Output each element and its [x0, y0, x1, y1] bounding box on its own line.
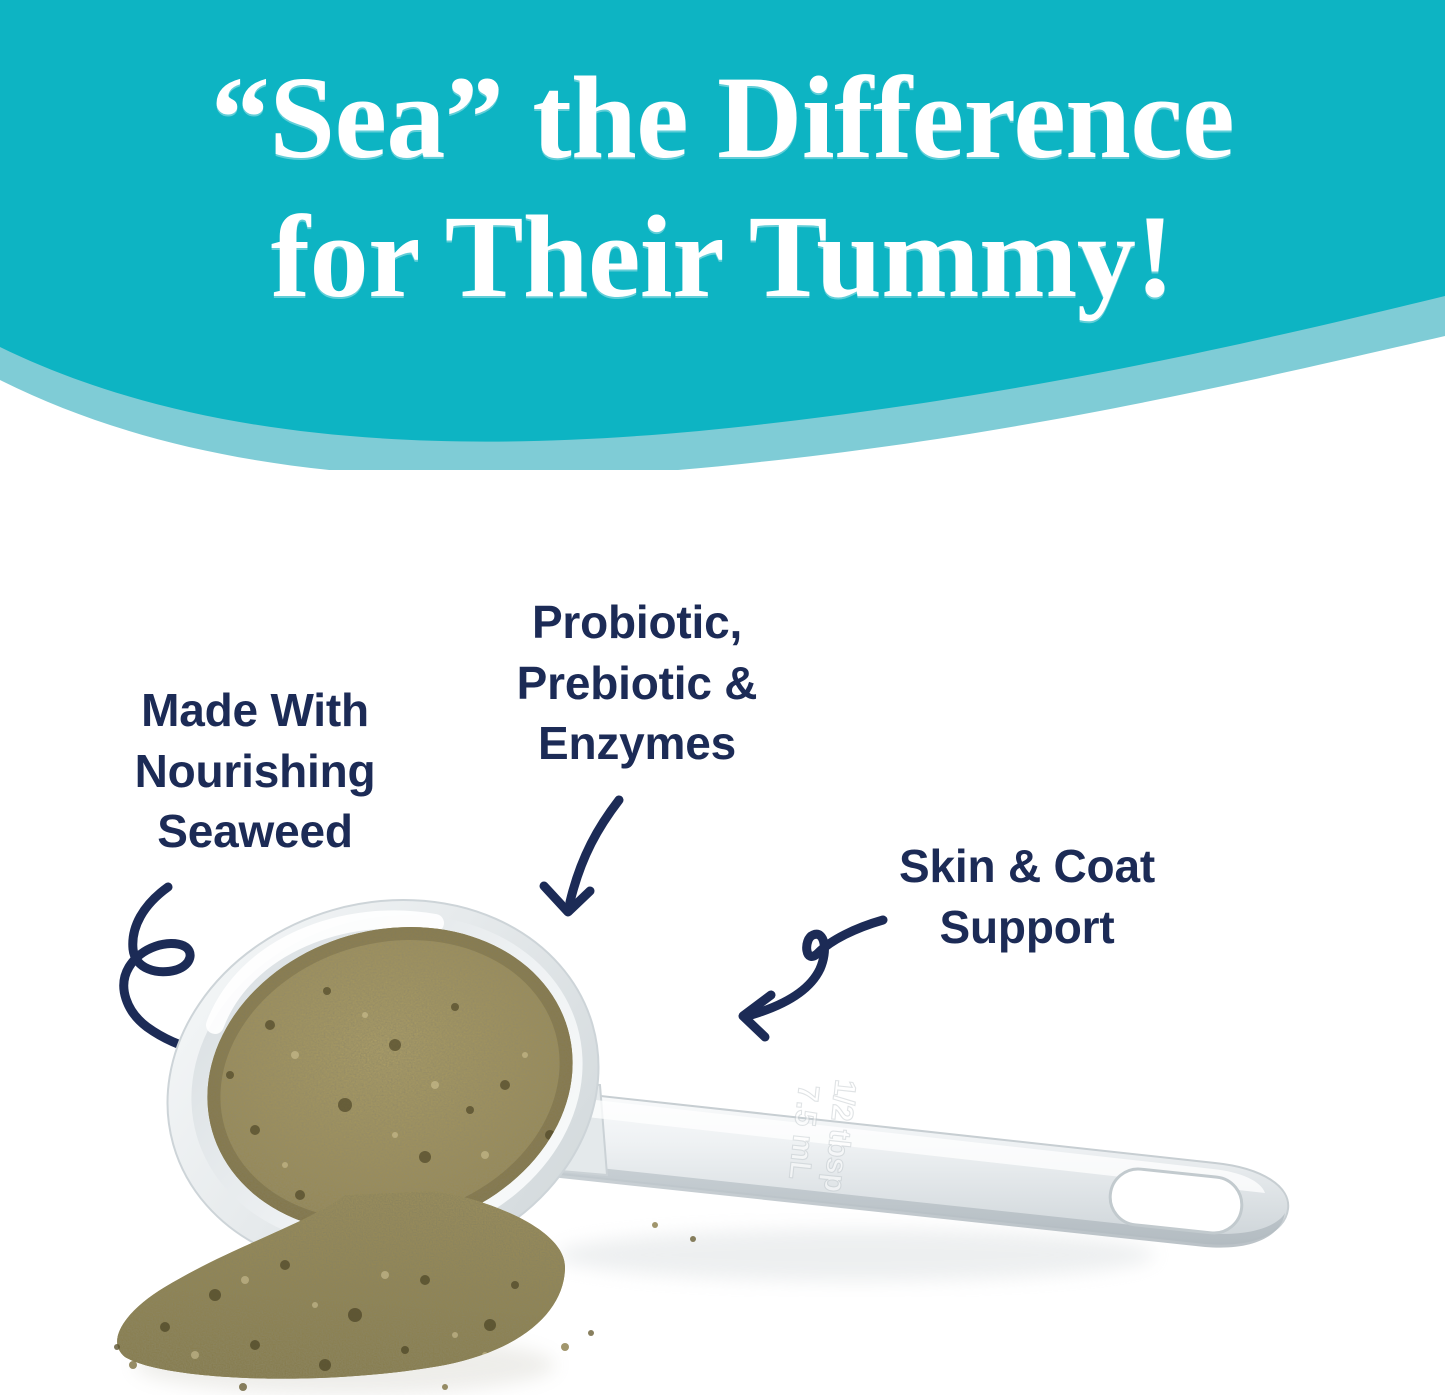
page-title: “Sea” the Difference for Their Tummy!	[0, 48, 1445, 326]
feature-label-probiotic: Probiotic, Prebiotic & Enzymes	[452, 592, 822, 774]
spoon-handle: 1/2 tbsp 7.5 mL	[491, 1073, 1288, 1248]
spoon-illustration: 1/2 tbsp 7.5 mL	[95, 895, 1385, 1395]
header-banner: “Sea” the Difference for Their Tummy!	[0, 0, 1445, 470]
product-image-measuring-spoon: 1/2 tbsp 7.5 mL	[95, 895, 1385, 1395]
infographic-canvas: “Sea” the Difference for Their Tummy! Ma…	[0, 0, 1445, 1396]
feature-label-seaweed: Made With Nourishing Seaweed	[60, 680, 450, 862]
handle-shadow	[555, 1229, 1155, 1281]
